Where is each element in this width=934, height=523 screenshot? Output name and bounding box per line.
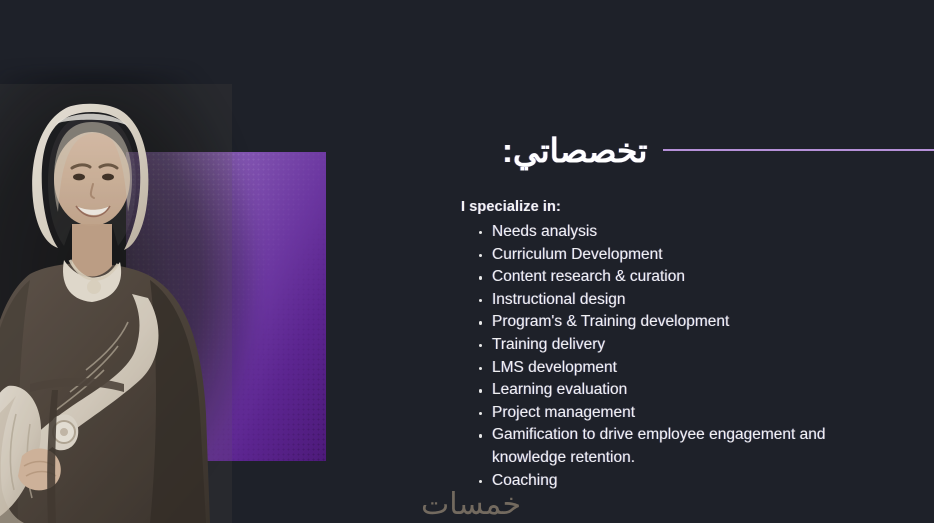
list-item: Coaching [478, 470, 898, 493]
list-item: LMS development [478, 357, 898, 380]
page-title: تخصصاتي: [502, 131, 647, 170]
title-divider-line [663, 149, 934, 151]
list-item: Program's & Training development [478, 311, 898, 334]
section-title-row: تخصصاتي: [440, 122, 934, 178]
list-item: Instructional design [478, 289, 898, 312]
portrait-photo [0, 84, 232, 523]
lead-text: I specialize in: [461, 199, 561, 215]
list-item: Learning evaluation [478, 379, 898, 402]
list-item: Needs analysis [478, 221, 898, 244]
specialties-list: Needs analysisCurriculum DevelopmentCont… [478, 221, 898, 492]
list-item: Project management [478, 402, 898, 425]
presentation-slide: تخصصاتي: I specialize in: Needs analysis… [0, 0, 934, 523]
list-item: Gamification to drive employee engagemen… [478, 424, 898, 469]
list-item: Curriculum Development [478, 244, 898, 267]
visual-block [0, 0, 400, 523]
list-item: Content research & curation [478, 266, 898, 289]
list-item: Training delivery [478, 334, 898, 357]
content-block: تخصصاتي: I specialize in: Needs analysis… [440, 0, 934, 523]
